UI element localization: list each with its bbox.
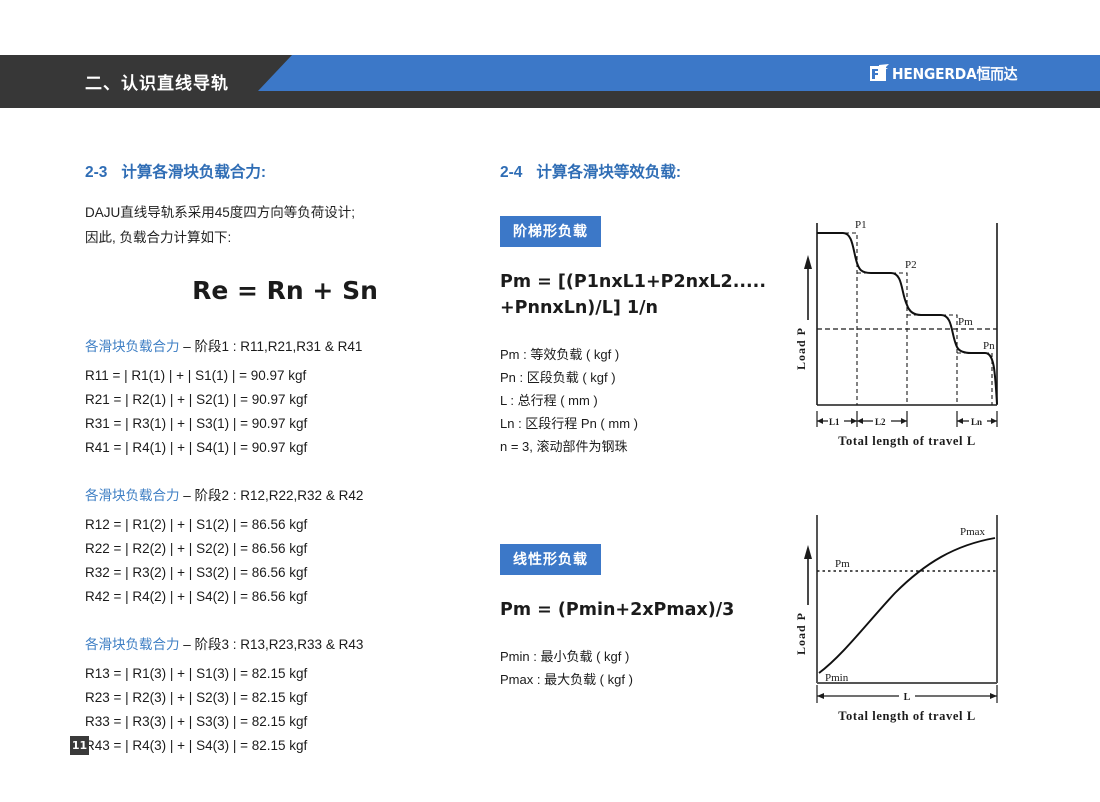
group-title: 各滑块负载合力 – 阶段2 : R12,R22,R32 & R42 bbox=[85, 484, 485, 504]
step-chart-ylabel: Load P bbox=[795, 327, 808, 370]
equation-row: R41 = | R4(1) | + | S4(1) | = 90.97 kgf bbox=[85, 436, 485, 460]
linear-load-tag: 线性形负载 bbox=[500, 544, 601, 575]
intro-line-2: 因此, 负载合力计算如下: bbox=[85, 225, 485, 250]
linear-chart-xlabel: Total length of travel L bbox=[838, 709, 976, 723]
intro-paragraph: DAJU直线导轨系采用45度四方向等负荷设计; 因此, 负载合力计算如下: bbox=[85, 200, 485, 250]
equation-row: R23 = | R2(3) | + | S2(3) | = 82.15 kgf bbox=[85, 686, 485, 710]
section-number: 2-4 bbox=[500, 164, 522, 181]
label-pmin: Pmin bbox=[825, 672, 849, 684]
group-label-rest: – 阶段1 : R11,R21,R31 & R41 bbox=[180, 339, 363, 354]
step-chart-xlabel: Total length of travel L bbox=[838, 434, 976, 448]
label-pm: Pm bbox=[958, 316, 973, 328]
load-axis-arrow-icon bbox=[804, 255, 812, 320]
group-label-blue: 各滑块负载合力 bbox=[85, 637, 180, 652]
label-pm: Pm bbox=[835, 558, 850, 570]
page-number: 11 bbox=[70, 736, 89, 755]
group-title: 各滑块负载合力 – 阶段3 : R13,R23,R33 & R43 bbox=[85, 633, 485, 653]
intro-line-1: DAJU直线导轨系采用45度四方向等负荷设计; bbox=[85, 200, 485, 225]
equation-row: R43 = | R4(3) | + | S4(3) | = 82.15 kgf bbox=[85, 734, 485, 758]
label-l1: L1 bbox=[829, 417, 840, 427]
section-title: 计算各滑块负载合力: bbox=[121, 164, 266, 181]
brand-name: HENGERDA恒而达 bbox=[892, 63, 1017, 84]
page-title: 二、认识直线导轨 bbox=[85, 55, 229, 108]
load-group-1: 各滑块负载合力 – 阶段1 : R11,R21,R31 & R41 R11 = … bbox=[85, 335, 485, 460]
section-heading-2-4: 2-4计算各滑块等效负载: bbox=[500, 160, 1020, 182]
equation-row: R31 = | R3(1) | + | S3(1) | = 90.97 kgf bbox=[85, 412, 485, 436]
label-pmax: Pmax bbox=[960, 526, 986, 538]
equation-row: R12 = | R1(2) | + | S1(2) | = 86.56 kgf bbox=[85, 513, 485, 537]
equation-row: R33 = | R3(3) | + | S3(3) | = 82.15 kgf bbox=[85, 710, 485, 734]
equation-row: R11 = | R1(1) | + | S1(1) | = 90.97 kgf bbox=[85, 364, 485, 388]
equation-row: R13 = | R1(3) | + | S1(3) | = 82.15 kgf bbox=[85, 662, 485, 686]
left-column: 2-3计算各滑块负载合力: DAJU直线导轨系采用45度四方向等负荷设计; 因此… bbox=[85, 160, 485, 782]
label-ln: Ln bbox=[971, 417, 982, 427]
step-load-chart-svg: Load P P1 P2 Pm Pn bbox=[795, 205, 1020, 450]
document-page: 二、认识直线导轨 HENGERDA恒而达 2-3计算各滑块负载合力: DAJU直… bbox=[0, 0, 1100, 802]
label-l2: L2 bbox=[875, 417, 886, 427]
label-p1: P1 bbox=[855, 219, 867, 231]
page-header: 二、认识直线导轨 HENGERDA恒而达 bbox=[0, 55, 1100, 108]
load-group-3: 各滑块负载合力 – 阶段3 : R13,R23,R33 & R43 R13 = … bbox=[85, 633, 485, 758]
section-number: 2-3 bbox=[85, 164, 107, 181]
section-heading-2-3: 2-3计算各滑块负载合力: bbox=[85, 160, 485, 182]
group-label-rest: – 阶段3 : R13,R23,R33 & R43 bbox=[180, 637, 364, 652]
brand-logo: HENGERDA恒而达 bbox=[870, 55, 1028, 91]
step-load-tag: 阶梯形负载 bbox=[500, 216, 601, 247]
equation-row: R21 = | R2(1) | + | S2(1) | = 90.97 kgf bbox=[85, 388, 485, 412]
group-title: 各滑块负载合力 – 阶段1 : R11,R21,R31 & R41 bbox=[85, 335, 485, 355]
section-title: 计算各滑块等效负载: bbox=[536, 164, 681, 181]
main-formula: Re = Rn + Sn bbox=[85, 276, 485, 305]
group-label-blue: 各滑块负载合力 bbox=[85, 488, 180, 503]
label-l: L bbox=[904, 692, 911, 703]
linear-chart-ylabel: Load P bbox=[795, 612, 808, 655]
linear-load-chart-svg: Load P Pm Pmin Pmax L Total length of tr… bbox=[795, 505, 1020, 725]
load-group-2: 各滑块负载合力 – 阶段2 : R12,R22,R32 & R42 R12 = … bbox=[85, 484, 485, 609]
linear-load-chart: Load P Pm Pmin Pmax L Total length of tr… bbox=[795, 505, 1020, 725]
eagle-logo-icon bbox=[870, 64, 890, 83]
group-label-blue: 各滑块负载合力 bbox=[85, 339, 180, 354]
group-label-rest: – 阶段2 : R12,R22,R32 & R42 bbox=[180, 488, 364, 503]
load-axis-arrow-icon bbox=[804, 545, 812, 605]
equation-row: R22 = | R2(2) | + | S2(2) | = 86.56 kgf bbox=[85, 537, 485, 561]
step-load-chart: Load P P1 P2 Pm Pn bbox=[795, 205, 1020, 450]
label-p2: P2 bbox=[905, 259, 917, 271]
equation-row: R42 = | R4(2) | + | S4(2) | = 86.56 kgf bbox=[85, 585, 485, 609]
equation-row: R32 = | R3(2) | + | S3(2) | = 86.56 kgf bbox=[85, 561, 485, 585]
label-pn: Pn bbox=[983, 340, 995, 352]
